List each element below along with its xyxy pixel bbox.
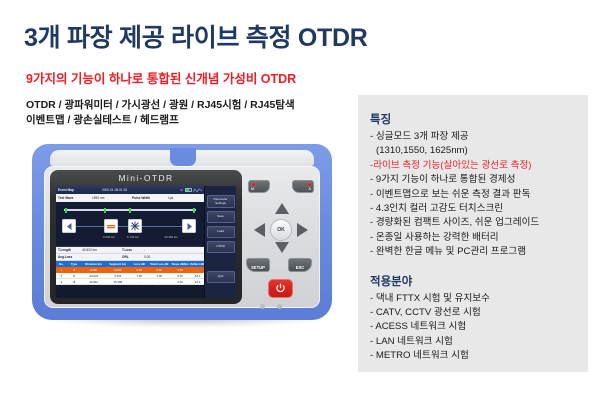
function-key-a[interactable]: A [292,180,314,193]
softkey-quit[interactable]: Quit [207,271,235,283]
cell: -52.1 [190,274,204,278]
fiber-marker [65,208,67,213]
event-label-1: 5.734 km [118,235,148,239]
summary-key: T.Length [58,248,82,252]
cell: 0.00 [170,268,190,272]
cell: -22.6 [190,280,204,284]
cell: 0.00 [170,280,190,284]
col-header: Segment km [106,262,130,266]
lcd-parameter-bar: Test Wave 1550 nm Pulse Width 1µs [56,194,204,202]
col-header: Loss dB [130,262,149,266]
application-item: - CATV, CCTV 광선로 시험 [370,306,588,320]
led-indicator-icon [308,183,311,186]
spec-line-1: OTDR / 광파워미터 / 가시광선 / 광원 / RJ45시험 / RJ45… [26,98,295,113]
cell: 0.000 [81,268,105,272]
cell: ⧉ [67,274,82,278]
cell: 0.00 [130,268,149,272]
lcd-event-table[interactable]: No. Type Distance km Segment km Loss dB … [56,261,204,285]
features-list: - 싱글모드 3개 파장 제공 (1310,1550, 1625nm) -라이브… [370,130,588,260]
lcd-datetime: 2000-01-08 01:16 [102,188,127,192]
cell: ⬆ [67,268,82,272]
softkey-spacer [207,256,235,268]
softkey-save[interactable]: Save [207,211,235,223]
fiber-marker [104,208,106,213]
connector-icon[interactable] [104,219,118,233]
softkey-otdr[interactable]: OTDR [207,241,235,253]
cell: 35.398 [106,280,130,284]
indicator-led-icon [277,304,282,309]
summary-value: - [82,255,122,259]
feature-item: - 싱글모드 3개 파장 제공 [370,130,588,144]
setup-button[interactable]: SETUP [246,258,270,272]
summary-value-2: - [144,248,174,252]
summary-key: Avg.Loss [58,255,82,259]
applications-list: - 댁내 FTTX 시험 및 유지보수 - CATV, CCTV 광선로 시험 … [370,292,588,364]
left-arrow-icon[interactable] [254,223,265,237]
cell: ⬇ [67,280,82,284]
cell: 2 [56,274,67,278]
application-item: - LAN 네트워크 시험 [370,335,588,349]
col-header: Distance km [81,262,105,266]
arrow-right-icon[interactable] [182,219,196,233]
otdr-device-image: Mini-OTDR Event Map 2000-01-08 01:16 ⎈ [32,142,332,328]
led-indicator-icon [252,183,255,186]
application-item: - ACESS 네트워크 시험 [370,320,588,334]
up-arrow-icon[interactable] [275,203,289,214]
cell: - [130,280,149,284]
feature-item: - 완벽한 한글 메뉴 및 PC관리 프로그램 [370,245,588,259]
feature-item: - 온종일 사용하는 강력한 배터리 [370,231,588,245]
cell: 1.00 [130,274,149,278]
function-key-m[interactable]: M [248,180,270,193]
table-row[interactable]: 3 ⬇ 40.502 35.398 - - 0.00 -22.6 [56,279,204,285]
col-header: Type [67,262,82,266]
summary-value-2: 0.00 [144,255,174,259]
ok-button[interactable]: OK [270,219,292,241]
cell: - [190,268,204,272]
page-title: 3개 파장 제공 라이브 측정 OTDR [24,18,367,54]
indicator-led-icon [260,304,265,309]
cell: 1 [56,268,67,272]
col-header: No. [56,262,67,266]
softkey-load[interactable]: Load [207,226,235,238]
device-top-notch [170,148,196,166]
device-lcd-screen[interactable]: Event Map 2000-01-08 01:16 ⎈ Test Wave 1… [56,186,236,298]
feature-panel: 특징 - 싱글모드 3개 파장 제공 (1310,1550, 1625nm) -… [358,95,588,372]
cell: 3 [56,280,67,284]
down-arrow-icon[interactable] [275,242,289,253]
event-label-2: 40.384 km [156,235,186,239]
waveform-icon [193,188,202,193]
feature-item: - 경량화된 컴팩트 사이즈, 쉬운 업그레이드 [370,216,588,230]
power-icon [275,283,286,294]
summary-value: 40.502 km [82,248,122,252]
softkey-parameter-settings[interactable]: Parameter Settings [207,195,235,208]
lcd-status-icons: ⎈ [180,188,202,193]
cell: 1.00 [149,274,170,278]
lcd-titlebar: Event Map 2000-01-08 01:16 ⎈ [56,186,204,194]
lcd-main-area: Event Map 2000-01-08 01:16 ⎈ Test Wave 1… [56,186,204,298]
device-indicator-leds [260,304,282,309]
cell: 0.00 [149,268,170,272]
lcd-summary: T.Length 40.502 km T.Loss - Avg.Loss - O… [56,247,204,261]
function-key-a-label: A [308,186,311,191]
device-bezel: Mini-OTDR Event Map 2000-01-08 01:16 ⎈ [50,170,242,304]
lcd-param-value-1: 1µs [168,196,173,200]
usb-icon: ⎈ [180,188,183,192]
lcd-event-map: 0.000 km 5.734 km 40.384 km [56,202,204,247]
application-item: - 댁내 FTTX 시험 및 유지보수 [370,292,588,306]
feature-item: (1310,1550, 1625nm) [370,144,588,158]
feature-item: - 4.3인치 컬러 고감도 터치스크린 [370,202,588,216]
spec-line-2: 이벤트맵 / 광손실테스트 / 헤드램프 [26,113,295,128]
right-arrow-icon[interactable] [297,223,308,237]
spec-list: OTDR / 광파워미터 / 가시광선 / 광원 / RJ45시험 / RJ45… [26,98,295,128]
col-header: Total Loss dB [149,262,170,266]
panel-spacer [370,260,588,273]
col-header: Slope dB/km [170,262,190,266]
device-keypad: M A OK SETUP ESC [246,172,316,302]
lcd-param-value-0: 1550 nm [92,196,132,200]
fiber-marker [193,208,195,213]
function-key-m-label: M [251,186,254,191]
summary-key-2: ORL [122,255,144,259]
battery-icon [185,188,192,192]
cell: - [149,280,170,284]
summary-key-2: T.Loss [122,248,144,252]
splice-icon[interactable] [128,219,142,233]
applications-heading: 적용분야 [370,273,588,289]
power-button[interactable] [268,279,293,298]
cell: 5.104 [106,274,130,278]
cell: 40.502 [81,280,105,284]
features-heading: 특징 [370,111,588,127]
feature-item: - 9가지 기능이 하나로 통합된 경제성 [370,173,588,187]
lcd-param-label-1: Pulse Width [132,196,168,200]
cell: 0.000 [106,268,130,272]
cell: 0.00 [170,274,190,278]
page-subtitle: 9가지의 기능이 하나로 통합된 신개념 가성비 OTDR [26,68,296,87]
arrow-left-icon[interactable] [62,219,76,233]
device-brand-label: Mini-OTDR [50,173,242,183]
fiber-marker [129,208,131,213]
col-header: Reflect dB [190,262,204,266]
feature-item-highlight: -라이브 측정 기능(살아있는 광선로 측정) [370,159,588,173]
summary-row: Avg.Loss - ORL 0.00 [56,254,204,261]
feature-item: - 이벤트맵으로 보는 쉬운 측정 결과 판독 [370,188,588,202]
application-item: - METRO 네트워크 시험 [370,349,588,363]
esc-button[interactable]: ESC [288,258,312,272]
lcd-param-label-0: Test Wave [58,196,92,200]
lcd-softkey-column: Parameter Settings Save Load OTDR Quit [204,186,236,298]
summary-row: T.Length 40.502 km T.Loss - [56,247,204,254]
lcd-screen-name: Event Map [58,188,74,192]
cell: -40.010 [81,274,105,278]
